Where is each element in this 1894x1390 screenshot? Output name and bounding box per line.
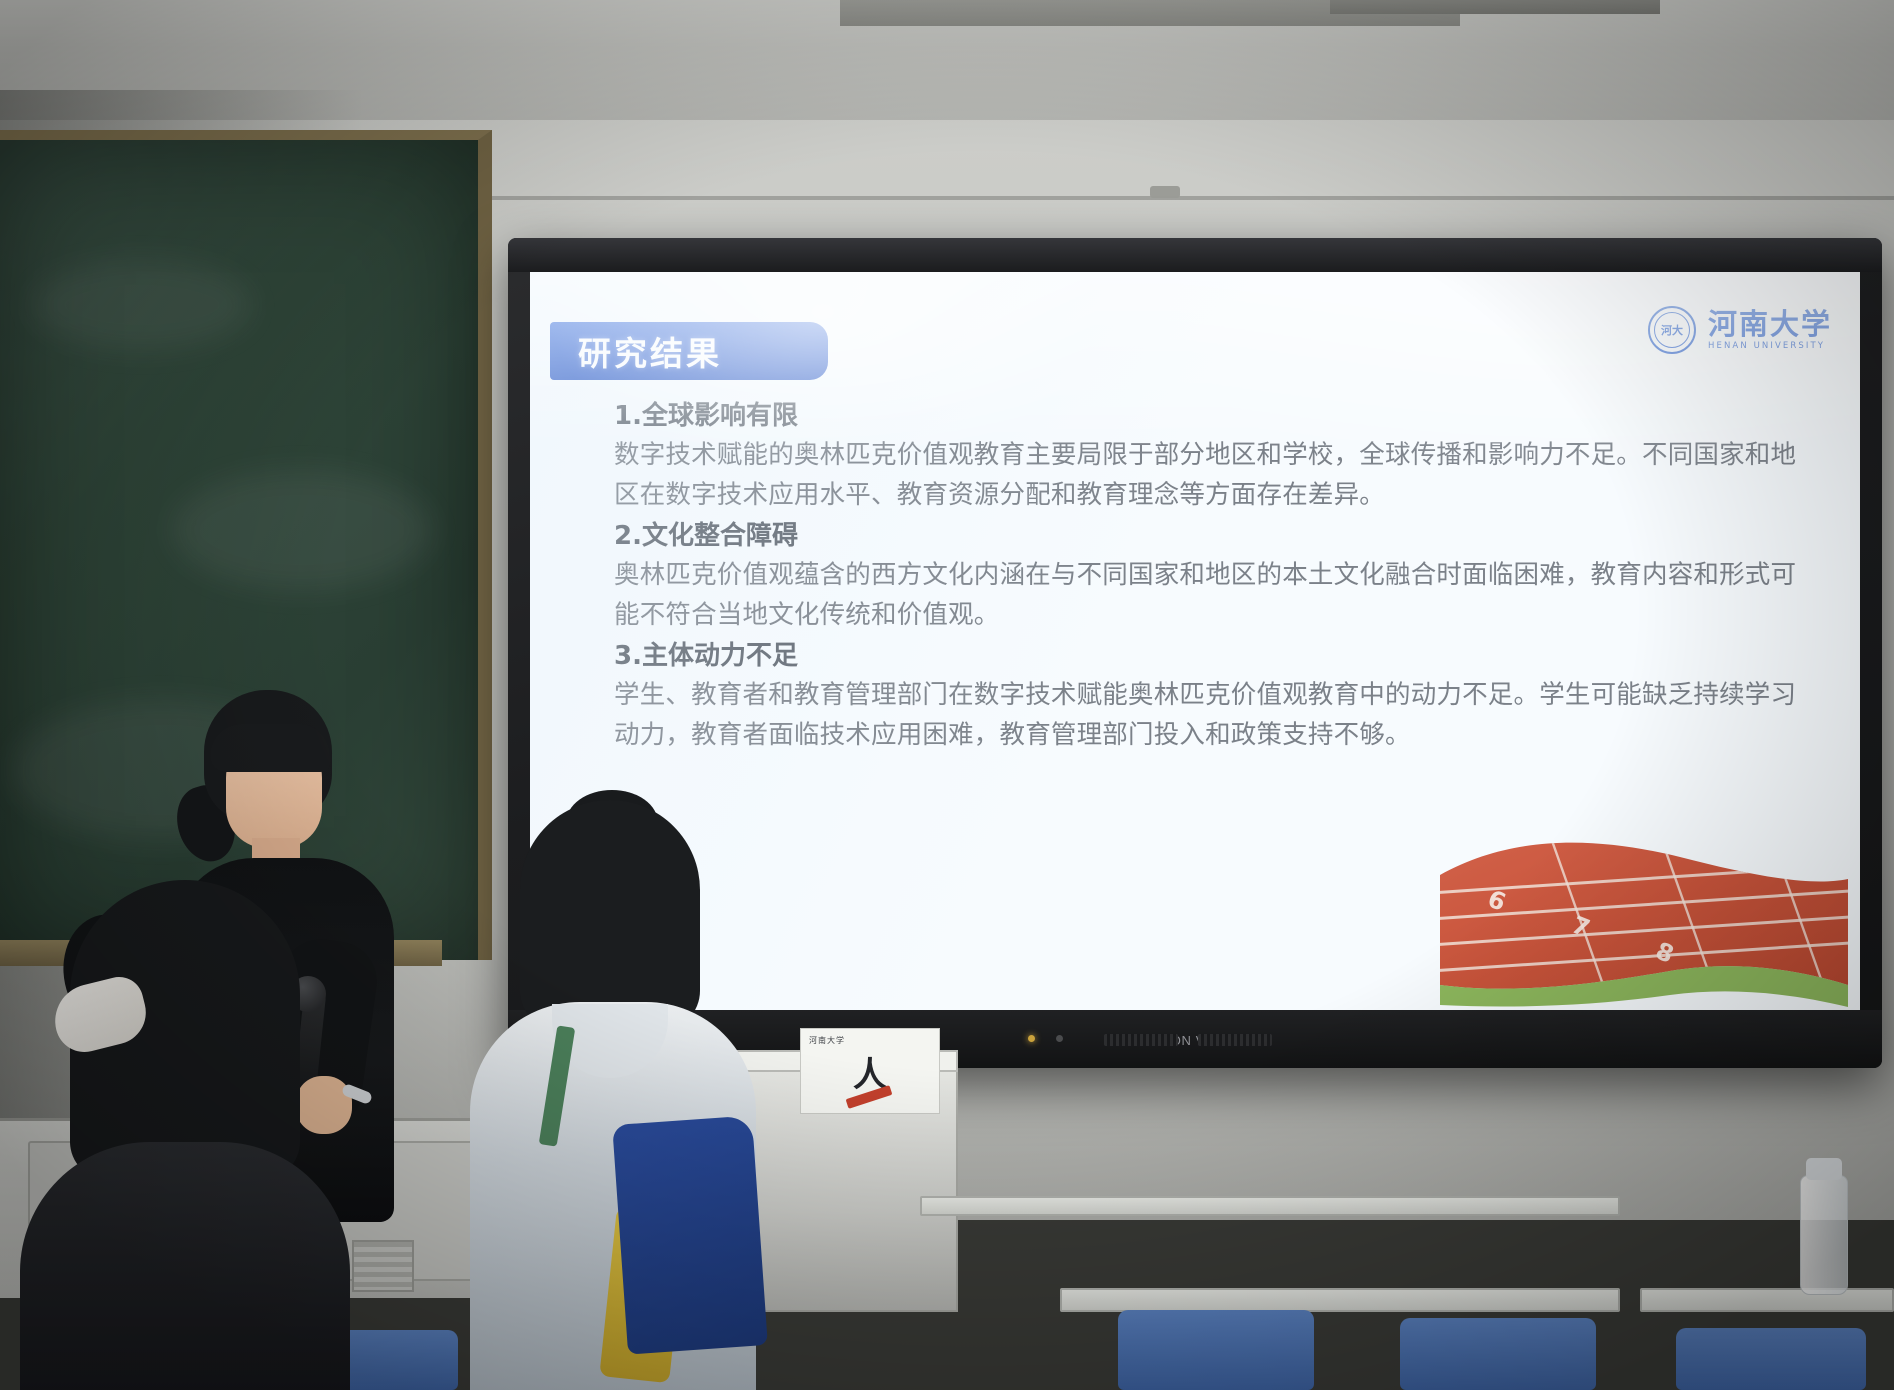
section-heading-2: 2.文化整合障碍	[614, 516, 1812, 556]
section-body-3: 学生、教育者和教育管理部门在数字技术赋能奥林匹克价值观教育中的动力不足。学生可能…	[614, 676, 1812, 756]
power-led-icon	[1028, 1035, 1035, 1042]
wall-sensor	[1150, 186, 1180, 198]
slide-title: 研究结果	[578, 327, 722, 375]
lectern-sign-caption: 河南大学	[809, 1035, 845, 1046]
cabinet-vent	[352, 1240, 414, 1292]
classroom-chair[interactable]	[1676, 1328, 1866, 1390]
running-track-graphic: 6 7 8 9	[1430, 835, 1850, 1010]
university-logo: 河大 河南大学 HENAN UNIVERSITY	[1648, 306, 1832, 354]
section-heading-3: 3.主体动力不足	[614, 636, 1812, 676]
slide-content: 1.全球影响有限 数字技术赋能的奥林匹克价值观教育主要局限于部分地区和学校，全球…	[614, 396, 1812, 755]
seal-mark: 河大	[1661, 322, 1683, 338]
status-led-icon	[1056, 1035, 1063, 1042]
classroom-scene: 研究结果 河大 河南大学 HENAN UNIVERSITY 1.全球影响有限 数…	[0, 0, 1894, 1390]
section-heading-1: 1.全球影响有限	[614, 396, 1812, 436]
water-bottle-cap	[1806, 1158, 1842, 1180]
student-desk	[1060, 1288, 1620, 1312]
university-name: 河南大学 HENAN UNIVERSITY	[1708, 309, 1832, 351]
university-name-cn: 河南大学	[1708, 309, 1832, 339]
foreground-student-left	[20, 880, 320, 1390]
ceiling-beam-secondary	[1330, 0, 1660, 14]
chalk-smudge	[32, 260, 252, 350]
student-desk	[920, 1196, 1620, 1216]
student-torso	[20, 1142, 350, 1390]
slide-title-banner: 研究结果	[550, 322, 828, 380]
speaker-vent	[1104, 1034, 1178, 1046]
section-body-1: 数字技术赋能的奥林匹克价值观教育主要局限于部分地区和学校，全球传播和影响力不足。…	[614, 436, 1812, 516]
backpack	[612, 1115, 768, 1354]
running-track-svg: 6 7 8 9	[1430, 835, 1850, 1010]
foreground-student-center	[440, 790, 780, 1390]
speaker-vent	[1198, 1034, 1272, 1046]
student-hair	[520, 800, 700, 1030]
presenter-fringe	[210, 724, 330, 772]
section-body-2: 奥林匹克价值观蕴含的西方文化内涵在与不同国家和地区的本土文化融合时面临困难，教育…	[614, 556, 1812, 636]
classroom-chair[interactable]	[1118, 1310, 1314, 1390]
student-desk	[1640, 1288, 1894, 1312]
university-seal-icon: 河大	[1648, 306, 1696, 354]
university-name-en: HENAN UNIVERSITY	[1708, 342, 1832, 351]
classroom-chair[interactable]	[1400, 1318, 1596, 1390]
display-bezel-top	[508, 238, 1882, 272]
water-bottle[interactable]	[1800, 1175, 1848, 1295]
chalk-smudge	[172, 470, 432, 590]
